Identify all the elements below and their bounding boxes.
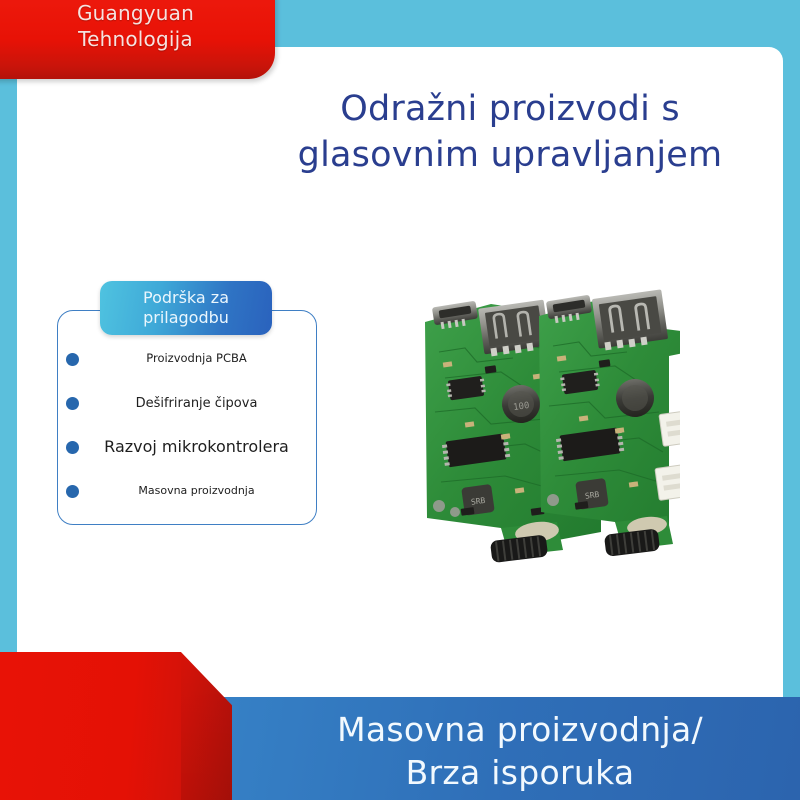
badge-line-2: prilagodbu <box>143 308 229 328</box>
list-item: Masovna proizvodnja <box>58 477 316 507</box>
bullet-dot-icon <box>66 485 79 498</box>
feature-label-1: Proizvodnja PCBA <box>87 352 306 366</box>
brand-name: Guangyuan Tehnologija <box>77 1 194 52</box>
brand-line-2: Tehnologija <box>77 27 194 53</box>
feature-label-4: Masovna proizvodnja <box>87 485 306 498</box>
badge-line-1: Podrška za <box>143 288 229 308</box>
bullet-dot-icon <box>66 441 79 454</box>
teal-frame: Guangyuan Tehnologija Odražni proizvodi … <box>0 0 800 800</box>
feature-list: Proizvodnja PCBA Dešifriranje čipova Raz… <box>58 337 316 514</box>
footer-line-2: Brza isporuka <box>250 752 790 795</box>
footer-line-1: Masovna proizvodnja/ <box>250 709 790 752</box>
customization-support-card: Proizvodnja PCBA Dešifriranje čipova Raz… <box>57 310 317 525</box>
feature-label-3: Razvoj mikrokontrolera <box>87 438 306 457</box>
brand-line-1: Guangyuan <box>77 1 194 27</box>
page-title-line-1: Odražni proizvodi s <box>250 86 770 132</box>
page-title-line-2: glasovnim upravljanjem <box>250 132 770 178</box>
list-item: Dešifriranje čipova <box>58 388 316 418</box>
product-photo: 100 <box>405 282 680 567</box>
brand-ribbon: Guangyuan Tehnologija <box>0 0 275 79</box>
bullet-dot-icon <box>66 353 79 366</box>
customization-support-badge: Podrška za prilagodbu <box>100 281 272 335</box>
footer-caption: Masovna proizvodnja/ Brza isporuka <box>250 709 790 795</box>
feature-label-2: Dešifriranje čipova <box>87 396 306 411</box>
bullet-dot-icon <box>66 397 79 410</box>
list-item: Proizvodnja PCBA <box>58 344 316 374</box>
list-item: Razvoj mikrokontrolera <box>58 433 316 463</box>
page-title: Odražni proizvodi s glasovnim upravljanj… <box>250 86 770 178</box>
